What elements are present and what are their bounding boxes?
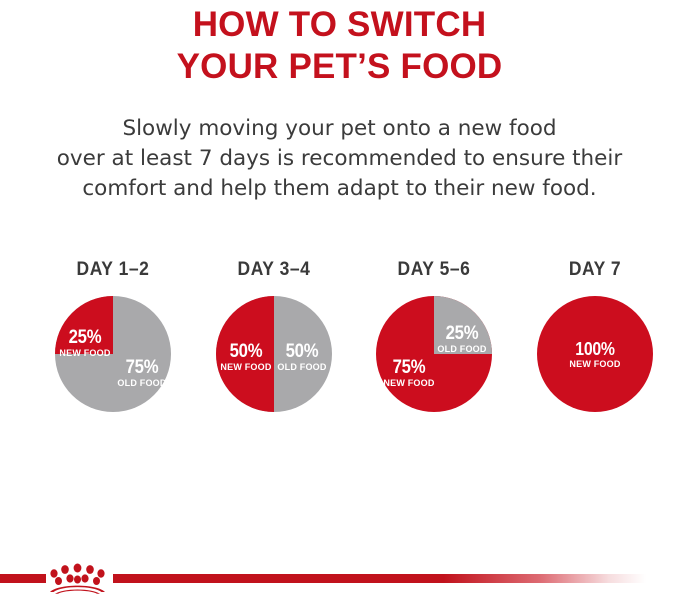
day-label-1: DAY 1–2	[39, 258, 186, 284]
pie-chart-day-5-6: DAY 5–6 75% NEW FOOD 25% OLD FOOD	[354, 258, 514, 438]
title-line-2: YOUR PET’S FOOD	[0, 46, 679, 88]
day-label-2: DAY 3–4	[200, 258, 347, 284]
pie-chart-row: DAY 1–2 25% NEW FOOD 75% OLD FOOD DAY 3–…	[0, 258, 679, 438]
page-title: HOW TO SWITCH YOUR PET’S FOOD	[0, 4, 679, 88]
day-label-4: DAY 7	[521, 258, 668, 284]
pie-chart-day-1-2: DAY 1–2 25% NEW FOOD 75% OLD FOOD	[33, 258, 193, 438]
intro-line-1: Slowly moving your pet onto a new food	[0, 114, 679, 144]
pie-chart-day-3-4: DAY 3–4 50% NEW FOOD 50% OLD FOOD	[194, 258, 354, 438]
intro-line-2: over at least 7 days is recommended to e…	[0, 144, 679, 174]
intro-paragraph: Slowly moving your pet onto a new food o…	[0, 114, 679, 204]
pie-svg-4	[537, 296, 653, 412]
pie-chart-day-7: DAY 7 100% NEW FOOD	[515, 258, 675, 438]
footer	[0, 560, 679, 594]
day-label-3: DAY 5–6	[360, 258, 507, 284]
intro-line-3: comfort and help them adapt to their new…	[0, 174, 679, 204]
pie-graphic-3: 75% NEW FOOD 25% OLD FOOD	[376, 296, 492, 412]
footer-bar-left	[0, 574, 46, 583]
pie-svg-2	[216, 296, 332, 412]
pie-svg-3	[376, 296, 492, 412]
pie-graphic-4: 100% NEW FOOD	[537, 296, 653, 412]
pie-graphic-2: 50% NEW FOOD 50% OLD FOOD	[216, 296, 332, 412]
pie-graphic-1: 25% NEW FOOD 75% OLD FOOD	[55, 296, 171, 412]
title-line-1: HOW TO SWITCH	[0, 4, 679, 46]
footer-bar-right	[113, 574, 646, 583]
pie-svg-1	[55, 296, 171, 412]
crown-icon	[44, 560, 112, 594]
